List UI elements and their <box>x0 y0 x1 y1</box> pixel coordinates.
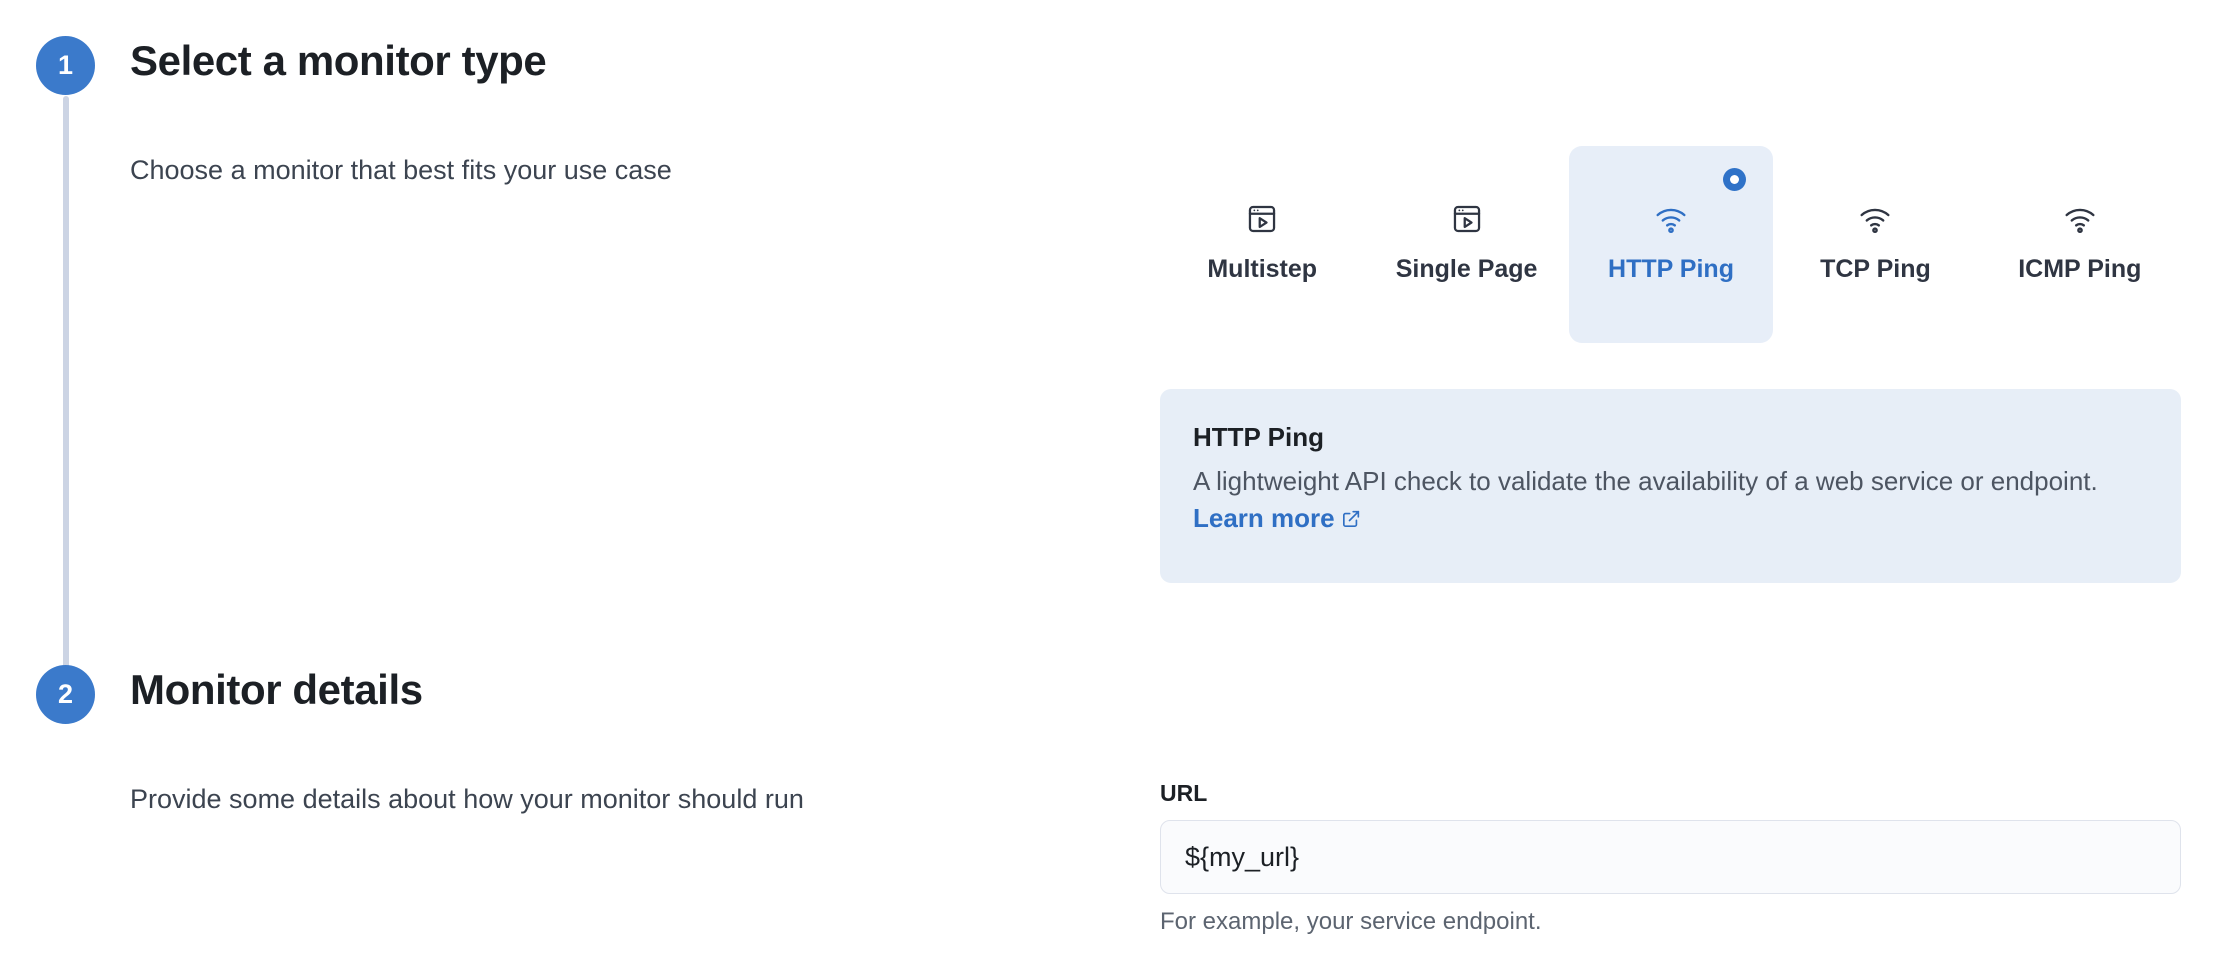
learn-more-label: Learn more <box>1193 503 1335 533</box>
stepper-connector-line <box>63 96 69 696</box>
monitor-type-card-single-page[interactable]: Single Page <box>1364 146 1568 343</box>
monitor-type-label: HTTP Ping <box>1608 255 1734 284</box>
radio-selected-icon[interactable] <box>1723 168 1746 191</box>
monitor-type-selector: Multistep Single Page <box>1160 146 2182 346</box>
section-subtitle-monitor-details: Provide some details about how your moni… <box>130 784 804 815</box>
url-field-help-text: For example, your service endpoint. <box>1160 908 2181 936</box>
section-title-monitor-details: Monitor details <box>130 666 423 714</box>
info-panel-description-text: A lightweight API check to validate the … <box>1193 466 2098 496</box>
browser-play-icon <box>1245 202 1279 236</box>
learn-more-link[interactable]: Learn more <box>1193 503 1361 533</box>
url-input[interactable] <box>1160 820 2181 894</box>
section-title-monitor-type: Select a monitor type <box>130 37 546 85</box>
monitor-type-label: TCP Ping <box>1820 255 1931 284</box>
info-panel-title: HTTP Ping <box>1193 421 2148 454</box>
monitor-type-info-panel: HTTP Ping A lightweight API check to val… <box>1160 389 2181 583</box>
section-subtitle-monitor-type: Choose a monitor that best fits your use… <box>130 155 672 186</box>
monitor-type-card-http-ping[interactable]: HTTP Ping <box>1569 146 1773 343</box>
browser-play-icon <box>1450 202 1484 236</box>
monitor-type-label: Multistep <box>1207 255 1317 284</box>
wifi-icon <box>1858 202 1892 236</box>
wifi-icon <box>2063 202 2097 236</box>
monitor-type-card-tcp-ping[interactable]: TCP Ping <box>1773 146 1977 343</box>
info-panel-description: A lightweight API check to validate the … <box>1193 463 2145 538</box>
monitor-type-card-multistep[interactable]: Multistep <box>1160 146 1364 343</box>
external-link-icon <box>1341 502 1361 522</box>
create-monitor-wizard: 1 Select a monitor type Choose a monitor… <box>0 0 2218 958</box>
step-number-2: 2 <box>58 681 73 708</box>
url-field-block: URL For example, your service endpoint. <box>1160 780 2181 936</box>
monitor-type-label: Single Page <box>1396 255 1538 284</box>
monitor-type-label: ICMP Ping <box>2018 255 2141 284</box>
step-badge-1: 1 <box>36 36 95 95</box>
step-badge-2: 2 <box>36 665 95 724</box>
monitor-type-card-icmp-ping[interactable]: ICMP Ping <box>1978 146 2182 343</box>
step-number-1: 1 <box>58 52 73 79</box>
wifi-icon <box>1654 202 1688 236</box>
url-field-label: URL <box>1160 780 2181 807</box>
